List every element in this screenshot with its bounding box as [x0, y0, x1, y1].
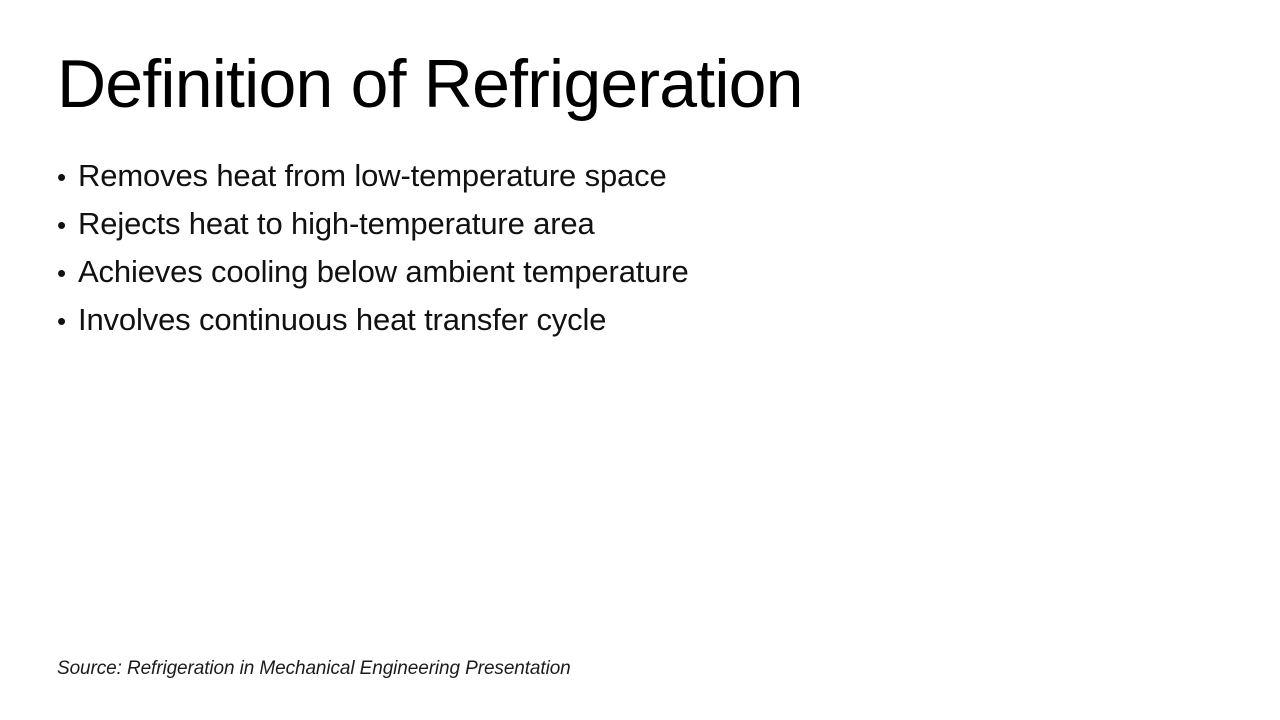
bullet-point-icon: •	[57, 249, 78, 297]
bullet-item-label: Rejects heat to high-temperature area	[78, 200, 595, 248]
list-item: • Removes heat from low-temperature spac…	[57, 152, 1177, 200]
bullet-point-icon: •	[57, 153, 78, 201]
list-item: • Involves continuous heat transfer cycl…	[57, 296, 1177, 344]
bullet-point-icon: •	[57, 297, 78, 345]
bullet-point-icon: •	[57, 201, 78, 249]
bullet-item-label: Involves continuous heat transfer cycle	[78, 296, 606, 344]
list-item: • Rejects heat to high-temperature area	[57, 200, 1177, 248]
bullet-item-label: Removes heat from low-temperature space	[78, 152, 667, 200]
bullet-item-label: Achieves cooling below ambient temperatu…	[78, 248, 689, 296]
page-title: Definition of Refrigeration	[57, 50, 1157, 118]
list-item: • Achieves cooling below ambient tempera…	[57, 248, 1177, 296]
bullet-list: • Removes heat from low-temperature spac…	[57, 152, 1177, 344]
source-caption: Source: Refrigeration in Mechanical Engi…	[57, 656, 571, 682]
presentation-slide: Definition of Refrigeration • Removes he…	[0, 0, 1280, 720]
